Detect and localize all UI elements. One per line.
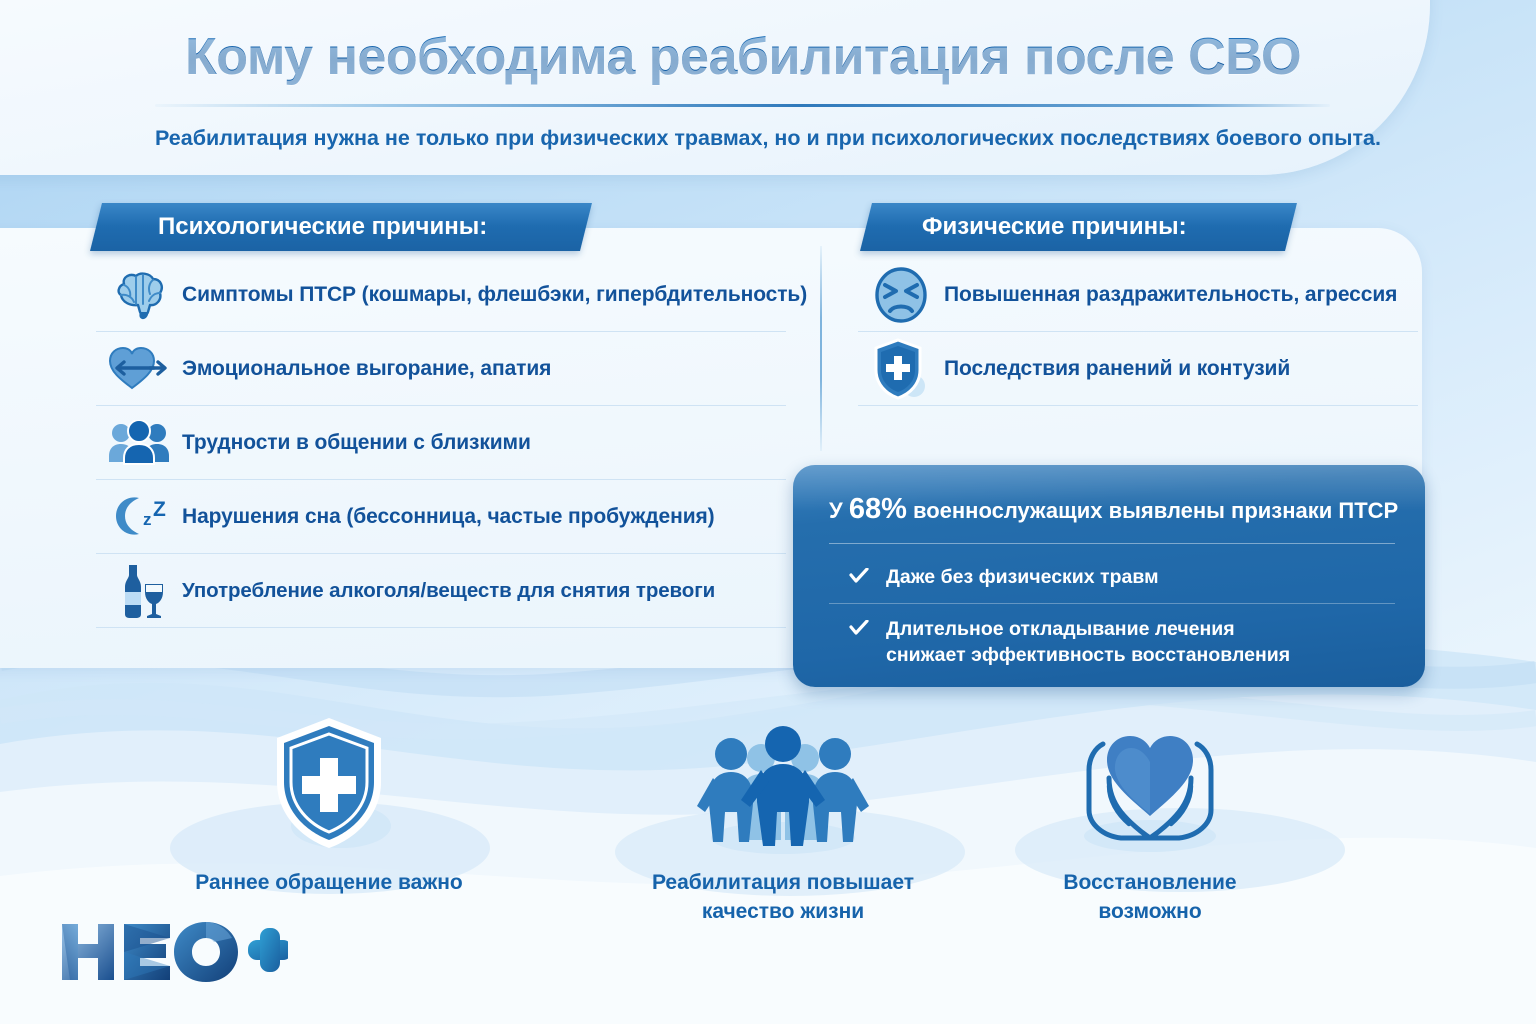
benefit-caption: Раннее обращение важно xyxy=(164,868,494,897)
benefit-caption-line: Реабилитация повышает xyxy=(618,868,948,897)
check-icon xyxy=(849,619,869,642)
page-title: Кому необходима реабилитация после СВО xyxy=(178,27,1308,87)
page-subtitle: Реабилитация нужна не только при физичес… xyxy=(155,126,1335,151)
shield-cross-icon xyxy=(858,338,944,400)
brain-icon xyxy=(96,270,182,320)
logo: НЕО+ xyxy=(58,918,288,984)
moon-sleep-icon: z Z xyxy=(96,492,182,542)
list-item-label: Трудности в общении с близкими xyxy=(182,431,531,455)
statistics-value: 68% xyxy=(849,493,907,525)
list-item-label: Последствия ранений и контузий xyxy=(944,357,1290,381)
shield-cross-large-icon xyxy=(164,714,494,854)
statistics-headline: У 68% военнослужащих выявлены признаки П… xyxy=(829,493,1399,526)
list-item: Повышенная раздражительность, агрессия xyxy=(858,258,1418,332)
physical-causes-banner: Физические причины: xyxy=(860,203,1297,251)
physical-causes-banner-label: Физические причины: xyxy=(866,203,1291,251)
statistics-bullet: Длительное откладывание лечения снижает … xyxy=(849,617,1290,668)
list-item: Последствия ранений и контузий xyxy=(858,332,1418,406)
psychological-causes-list: Симптомы ПТСР (кошмары, флешбэки, гиперб… xyxy=(96,258,786,628)
psychological-causes-banner: Психологические причины: xyxy=(90,203,592,251)
list-item: z Z Нарушения сна (бессонница, частые пр… xyxy=(96,480,786,554)
statistics-bullet-line: снижает эффективность восстановления xyxy=(886,643,1290,669)
benefit-item: Раннее обращение важно xyxy=(164,714,494,897)
bottle-glass-icon xyxy=(96,562,182,620)
hands-heart-icon xyxy=(985,714,1315,854)
list-item: Употребление алкоголя/веществ для снятия… xyxy=(96,554,786,628)
list-item-label: Употребление алкоголя/веществ для снятия… xyxy=(182,579,715,603)
people-team-icon xyxy=(618,714,948,854)
benefit-item: Восстановление возможно xyxy=(985,714,1315,927)
benefit-caption: Восстановление возможно xyxy=(985,868,1315,927)
benefit-caption-line: Раннее обращение важно xyxy=(164,868,494,897)
angry-face-icon xyxy=(858,266,944,324)
title-divider xyxy=(155,104,1330,107)
list-item-label: Повышенная раздражительность, агрессия xyxy=(944,283,1397,307)
statistics-bullet-line: Длительное откладывание лечения xyxy=(886,617,1290,643)
svg-text:z: z xyxy=(143,510,152,529)
statistics-bullet: Даже без физических травм xyxy=(849,565,1159,591)
headline-prefix: У xyxy=(829,498,849,523)
statistics-bullet-line: Даже без физических травм xyxy=(886,565,1159,591)
benefit-caption-line: возможно xyxy=(985,897,1315,926)
benefit-item: Реабилитация повышает качество жизни xyxy=(618,714,948,927)
svg-text:Z: Z xyxy=(153,498,166,521)
list-item: Симптомы ПТСР (кошмары, флешбэки, гиперб… xyxy=(96,258,786,332)
list-item-label: Эмоциональное выгорание, апатия xyxy=(182,357,551,381)
psychological-causes-banner-label: Психологические причины: xyxy=(96,203,586,251)
list-item-label: Симптомы ПТСР (кошмары, флешбэки, гиперб… xyxy=(182,283,807,307)
headline-suffix: военнослужащих выявлены признаки ПТСР xyxy=(907,498,1398,523)
card-divider xyxy=(829,543,1395,544)
column-divider xyxy=(820,246,822,451)
benefit-caption-line: качество жизни xyxy=(618,897,948,926)
people-group-icon xyxy=(96,420,182,466)
list-item-label: Нарушения сна (бессонница, частые пробуж… xyxy=(182,505,715,529)
heart-arrow-icon xyxy=(96,344,182,394)
statistics-card: У 68% военнослужащих выявлены признаки П… xyxy=(793,465,1425,687)
check-icon xyxy=(849,567,869,590)
physical-causes-list: Повышенная раздражительность, агрессия П… xyxy=(858,258,1418,406)
benefit-caption: Реабилитация повышает качество жизни xyxy=(618,868,948,927)
benefit-caption-line: Восстановление xyxy=(985,868,1315,897)
list-item: Трудности в общении с близкими xyxy=(96,406,786,480)
card-divider-2 xyxy=(829,603,1395,604)
list-item: Эмоциональное выгорание, апатия xyxy=(96,332,786,406)
